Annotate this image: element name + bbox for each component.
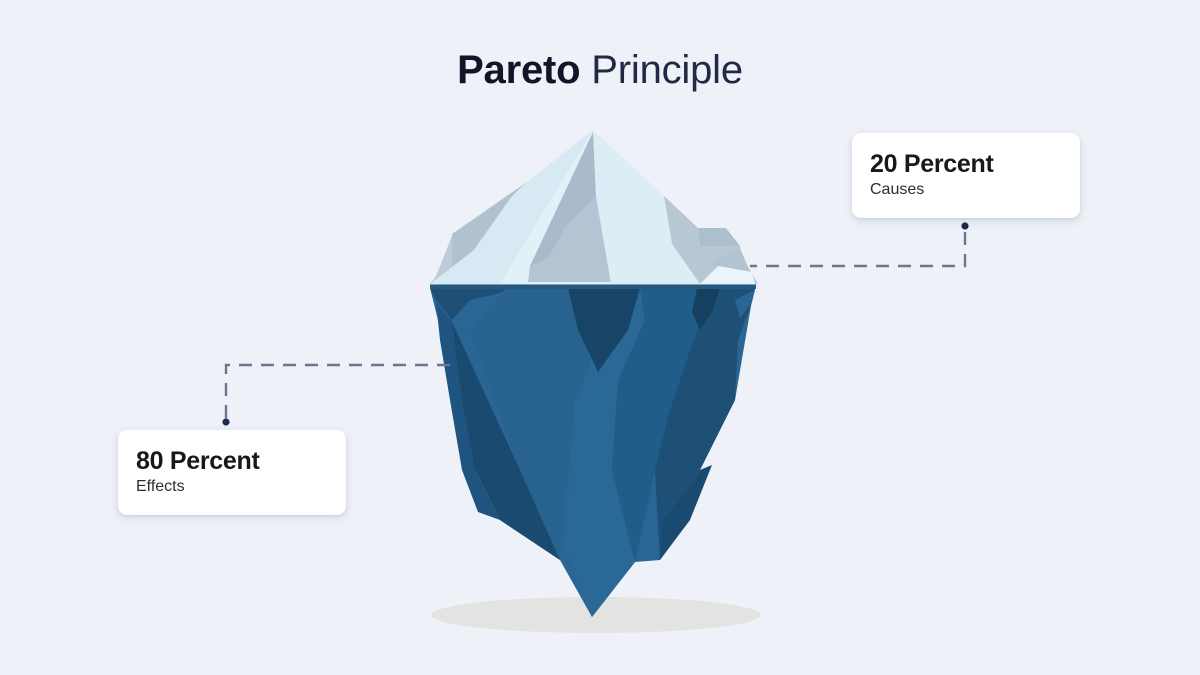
callout-causes-value: 20 Percent bbox=[870, 149, 1080, 179]
callout-effects-value: 80 Percent bbox=[136, 446, 346, 476]
callout-effects-label: Effects bbox=[136, 476, 346, 498]
connector-causes-path bbox=[750, 232, 965, 266]
pareto-principle-infographic: Pareto Principle bbox=[0, 0, 1200, 675]
connector-causes bbox=[750, 222, 969, 266]
callout-causes-label: Causes bbox=[870, 179, 1080, 201]
callout-card-causes[interactable]: 20 Percent Causes bbox=[852, 133, 1080, 218]
connector-causes-dot bbox=[961, 222, 968, 229]
callout-card-effects[interactable]: 80 Percent Effects bbox=[118, 430, 346, 515]
callout-connectors bbox=[0, 0, 1200, 675]
connector-effects-path bbox=[226, 365, 452, 418]
connector-effects-dot bbox=[222, 418, 229, 425]
connector-effects bbox=[222, 365, 452, 426]
